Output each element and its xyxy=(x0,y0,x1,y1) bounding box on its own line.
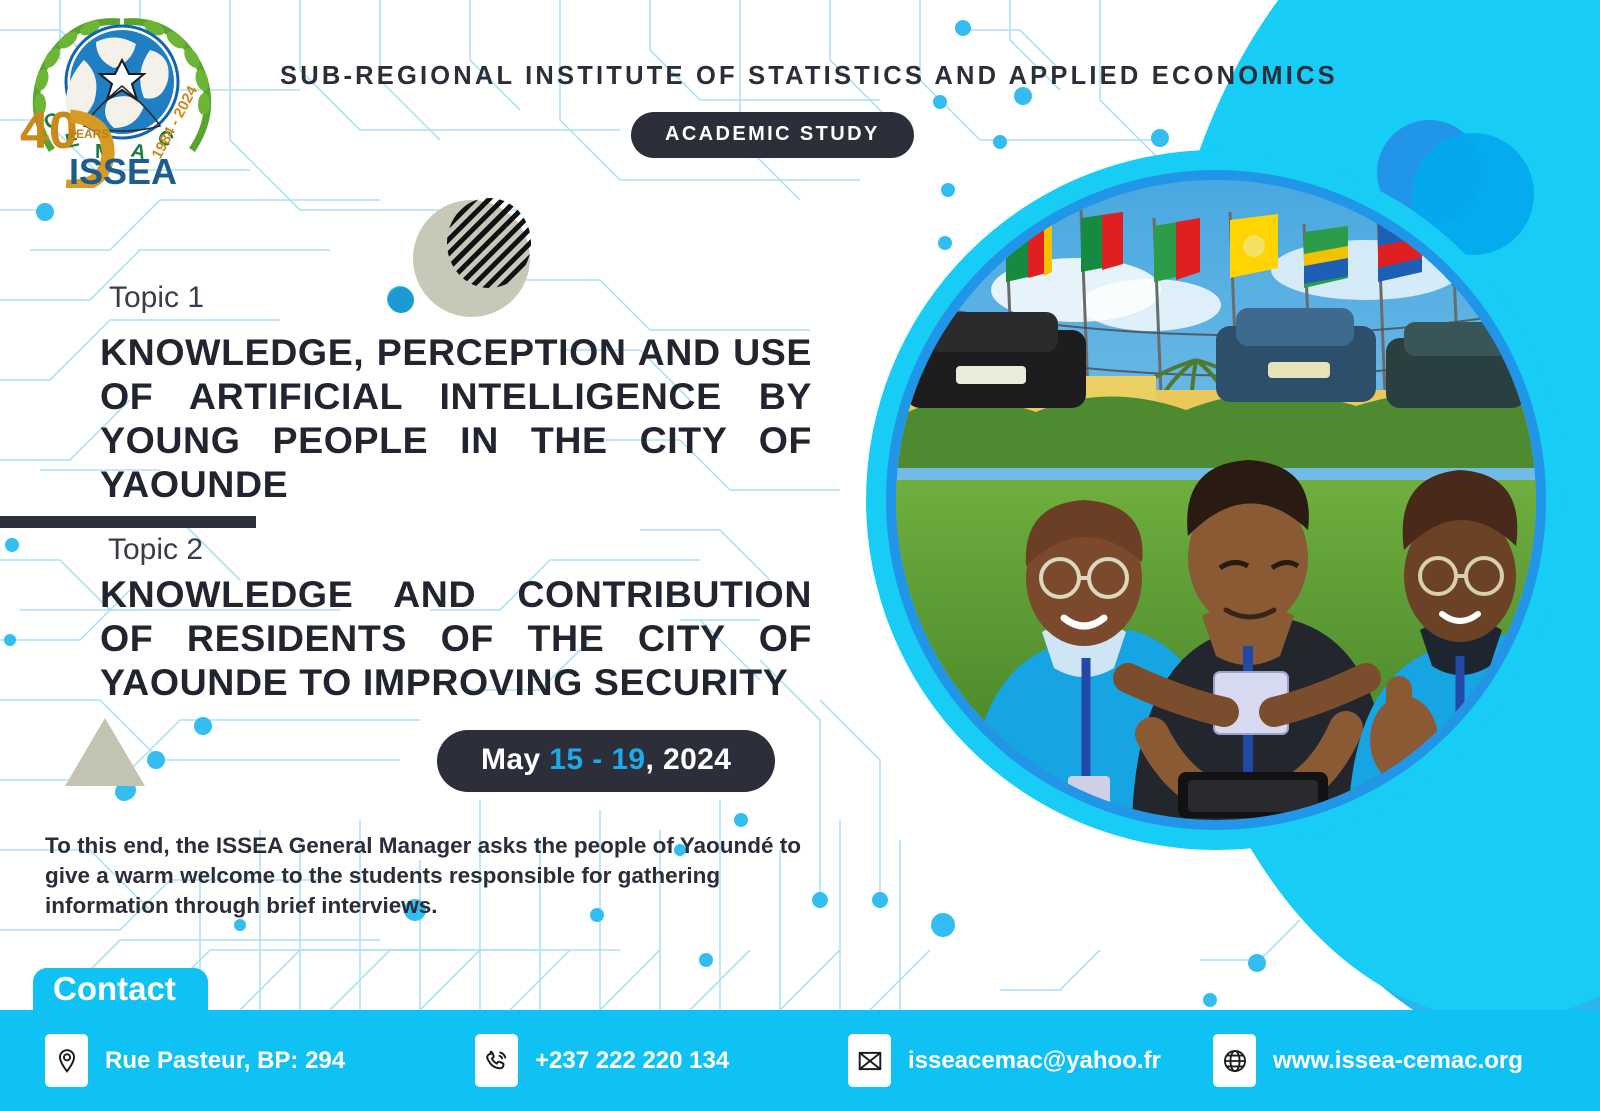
body-paragraph: To this end, the ISSEA General Manager a… xyxy=(45,831,835,921)
contact-address-text: Rue Pasteur, BP: 294 xyxy=(105,1047,345,1075)
contact-address[interactable]: Rue Pasteur, BP: 294 xyxy=(45,1034,345,1087)
photo-illustration xyxy=(896,180,1536,820)
students-photo xyxy=(896,180,1536,820)
date-badge: May 15 - 19, 2024 xyxy=(437,730,775,792)
contact-phone-text: +237 222 220 134 xyxy=(535,1047,729,1075)
poster-root: C E M A C 40 YEARS ISSEA 1984 - 2024 SUB… xyxy=(0,0,1600,1111)
page-title: SUB-REGIONAL INSTITUTE OF STATISTICS AND… xyxy=(280,62,1370,91)
date-separator: - xyxy=(583,743,611,776)
section-divider xyxy=(0,516,256,528)
decorative-striped-circle xyxy=(447,198,531,288)
anniversary-years: YEARS xyxy=(68,127,109,141)
envelope-icon xyxy=(848,1034,891,1087)
topic-2-title: KNOWLEDGE AND CONTRIBUTION OF RESIDENTS … xyxy=(100,572,812,704)
decorative-triangle xyxy=(65,718,145,786)
contact-email[interactable]: isseacemac@yahoo.fr xyxy=(848,1034,1161,1087)
date-day-end: 19 xyxy=(611,743,645,776)
contact-email-text: isseacemac@yahoo.fr xyxy=(908,1047,1161,1075)
contact-website-text: www.issea-cemac.org xyxy=(1273,1047,1523,1075)
contact-tab-label: Contact xyxy=(53,970,176,1008)
contact-phone[interactable]: +237 222 220 134 xyxy=(475,1034,729,1087)
location-pin-icon xyxy=(45,1034,88,1087)
phone-icon xyxy=(475,1034,518,1087)
topic-2-label: Topic 2 xyxy=(108,533,203,567)
topic-1-label: Topic 1 xyxy=(109,281,204,315)
topic-1-title: KNOWLEDGE, PERCEPTION AND USE OF ARTIFIC… xyxy=(100,330,812,506)
contact-website[interactable]: www.issea-cemac.org xyxy=(1213,1034,1523,1087)
status-badge: ACADEMIC STUDY xyxy=(631,112,914,158)
date-day-start: 15 xyxy=(549,743,583,776)
globe-icon xyxy=(1213,1034,1256,1087)
date-prefix: May xyxy=(481,743,549,776)
cemac-issea-logo: C E M A C 40 YEARS ISSEA 1984 - 2024 xyxy=(12,8,212,188)
contact-row: Rue Pasteur, BP: 294 +237 222 220 134 is… xyxy=(0,1010,1600,1111)
date-suffix: , 2024 xyxy=(646,743,732,776)
decorative-blue-dot xyxy=(388,287,414,313)
